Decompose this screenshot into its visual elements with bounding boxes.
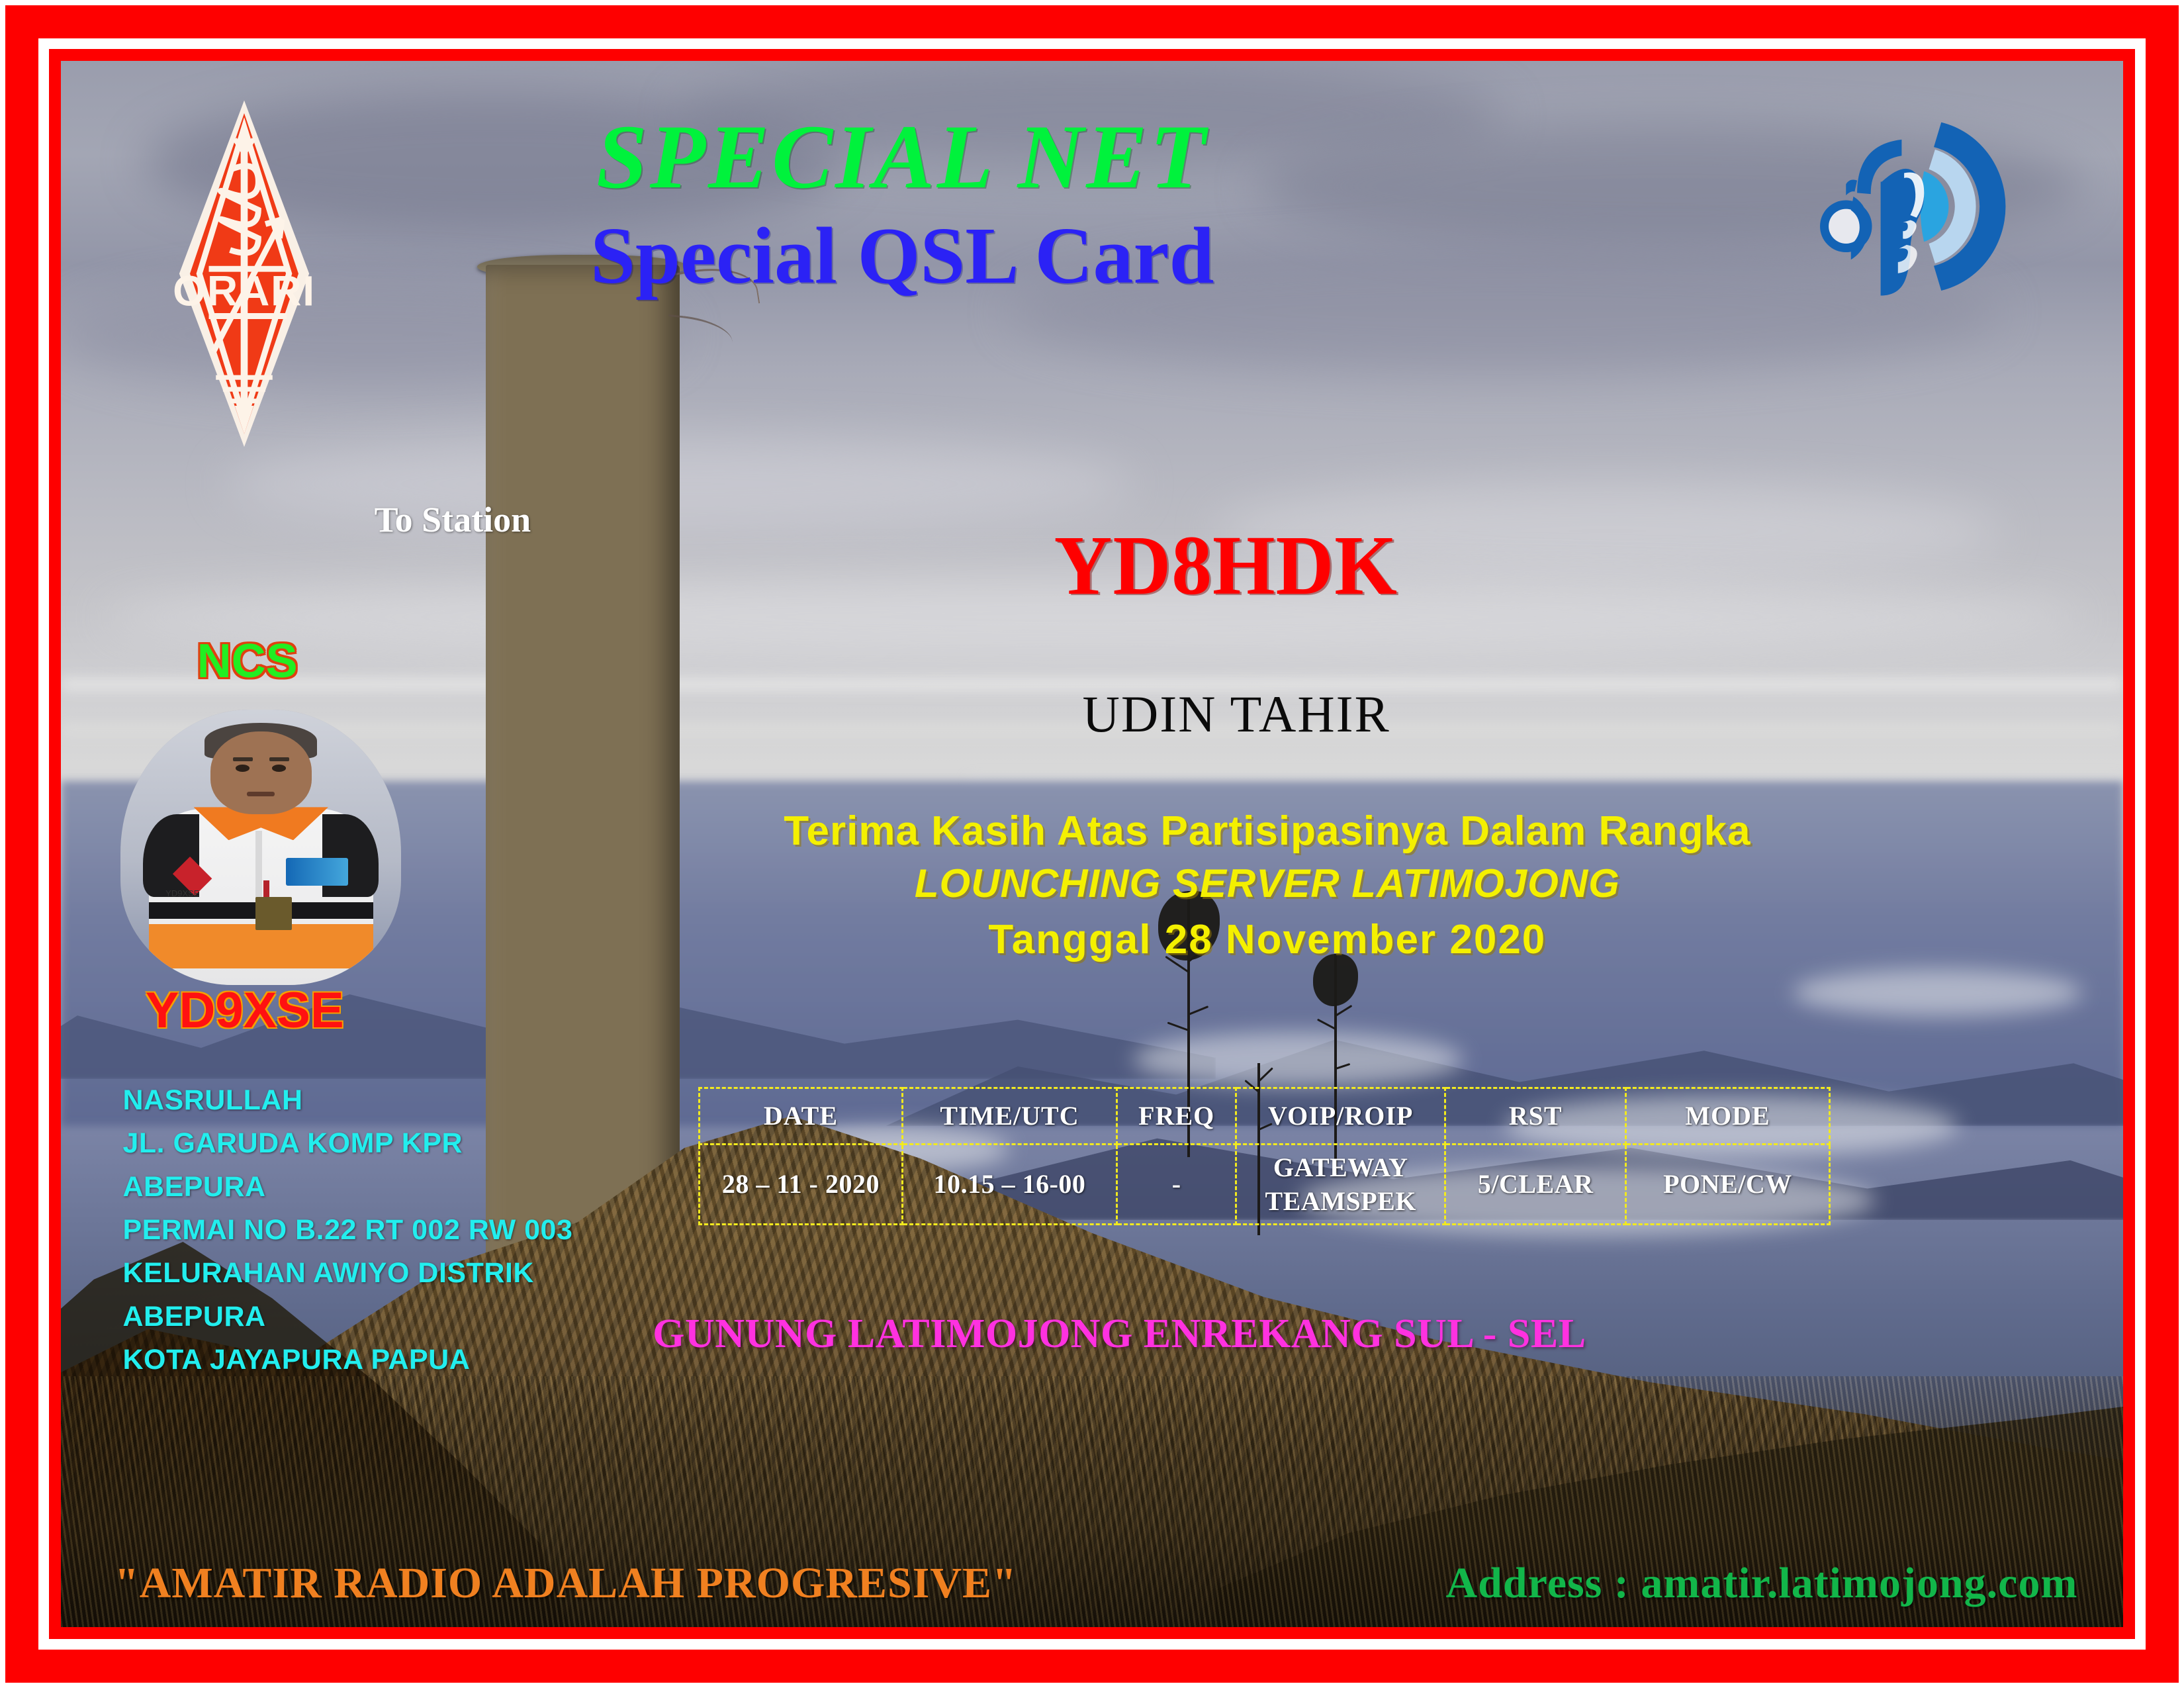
column-header-date: DATE xyxy=(699,1088,902,1144)
column-header-time: TIME/UTC xyxy=(902,1088,1116,1144)
thanks-message-block: Terima Kasih Atas Partisipasinya Dalam R… xyxy=(752,806,1783,970)
mailing-address: NASRULLAH JL. GARUDA KOMP KPR ABEPURA PE… xyxy=(122,1079,572,1382)
message-line-1: Terima Kasih Atas Partisipasinya Dalam R… xyxy=(752,806,1783,857)
table-header-row: DATE TIME/UTC FREQ VOIP/ROIP RST MODE xyxy=(699,1088,1829,1144)
to-station-label: To Station xyxy=(375,499,531,540)
message-line-2: LOUNCHING SERVER LATIMOJONG xyxy=(752,857,1783,910)
content-layer: ORARI xyxy=(61,61,2123,1627)
operator-name: UDIN TAHIR xyxy=(886,684,1586,744)
cell-voip-line-1: GATEWAY xyxy=(1237,1150,1444,1184)
cell-voip-line-2: TEAMSPEK xyxy=(1237,1184,1444,1218)
address-line: NASRULLAH xyxy=(122,1079,572,1122)
message-line-3: Tanggal 28 November 2020 xyxy=(752,910,1783,970)
column-header-rst: RST xyxy=(1445,1088,1625,1144)
cell-time: 10.15 – 16-00 xyxy=(902,1144,1116,1224)
card-photo-background: ORARI xyxy=(61,61,2123,1627)
ncs-callsign: YD9XSE xyxy=(146,982,344,1039)
qsl-card-frame: ORARI xyxy=(0,0,2184,1688)
column-header-voip: VOIP/ROIP xyxy=(1236,1088,1445,1144)
cell-voip: GATEWAY TEAMSPEK xyxy=(1236,1144,1445,1224)
white-border: ORARI xyxy=(38,38,2146,1650)
page-subtitle: Special QSL Card xyxy=(263,216,1541,297)
address-line: KELURAHAN AWIYO DISTRIK xyxy=(122,1252,572,1295)
station-callsign: YD8HDK xyxy=(952,523,1500,608)
photo-shirt-callsign: YD9XSE xyxy=(165,888,199,898)
outer-red-border: ORARI xyxy=(5,5,2179,1683)
cell-freq: - xyxy=(1117,1144,1236,1224)
ncs-label: NCS xyxy=(197,634,298,688)
inner-red-border: ORARI xyxy=(49,49,2135,1639)
table-row: 28 – 11 - 2020 10.15 – 16-00 - GATEWAY T… xyxy=(699,1144,1829,1224)
ncs-operator-photo: YD9XSE xyxy=(120,710,401,985)
cell-date: 28 – 11 - 2020 xyxy=(699,1144,902,1224)
cell-mode: PONE/CW xyxy=(1626,1144,1829,1224)
headphone-radio-logo-icon xyxy=(1820,100,2030,313)
address-line: PERMAI NO B.22 RT 002 RW 003 xyxy=(122,1209,572,1252)
qso-details-table: DATE TIME/UTC FREQ VOIP/ROIP RST MODE 28… xyxy=(698,1087,1831,1225)
address-line: JL. GARUDA KOMP KPR xyxy=(122,1122,572,1165)
cell-rst: 5/CLEAR xyxy=(1445,1144,1625,1224)
location-caption: GUNUNG LATIMOJONG ENREKANG SUL - SEL xyxy=(653,1311,1586,1358)
column-header-mode: MODE xyxy=(1626,1088,1829,1144)
address-line: ABEPURA xyxy=(122,1295,572,1338)
page-title: SPECIAL NET xyxy=(263,111,1541,203)
address-line: ABEPURA xyxy=(122,1166,572,1209)
address-line: KOTA JAYAPURA PAPUA xyxy=(122,1338,572,1382)
footer-web-address: Address : amatir.latimojong.com xyxy=(1446,1558,2078,1609)
footer-slogan: "AMATIR RADIO ADALAH PROGRESIVE" xyxy=(114,1558,1017,1609)
column-header-freq: FREQ xyxy=(1117,1088,1236,1144)
